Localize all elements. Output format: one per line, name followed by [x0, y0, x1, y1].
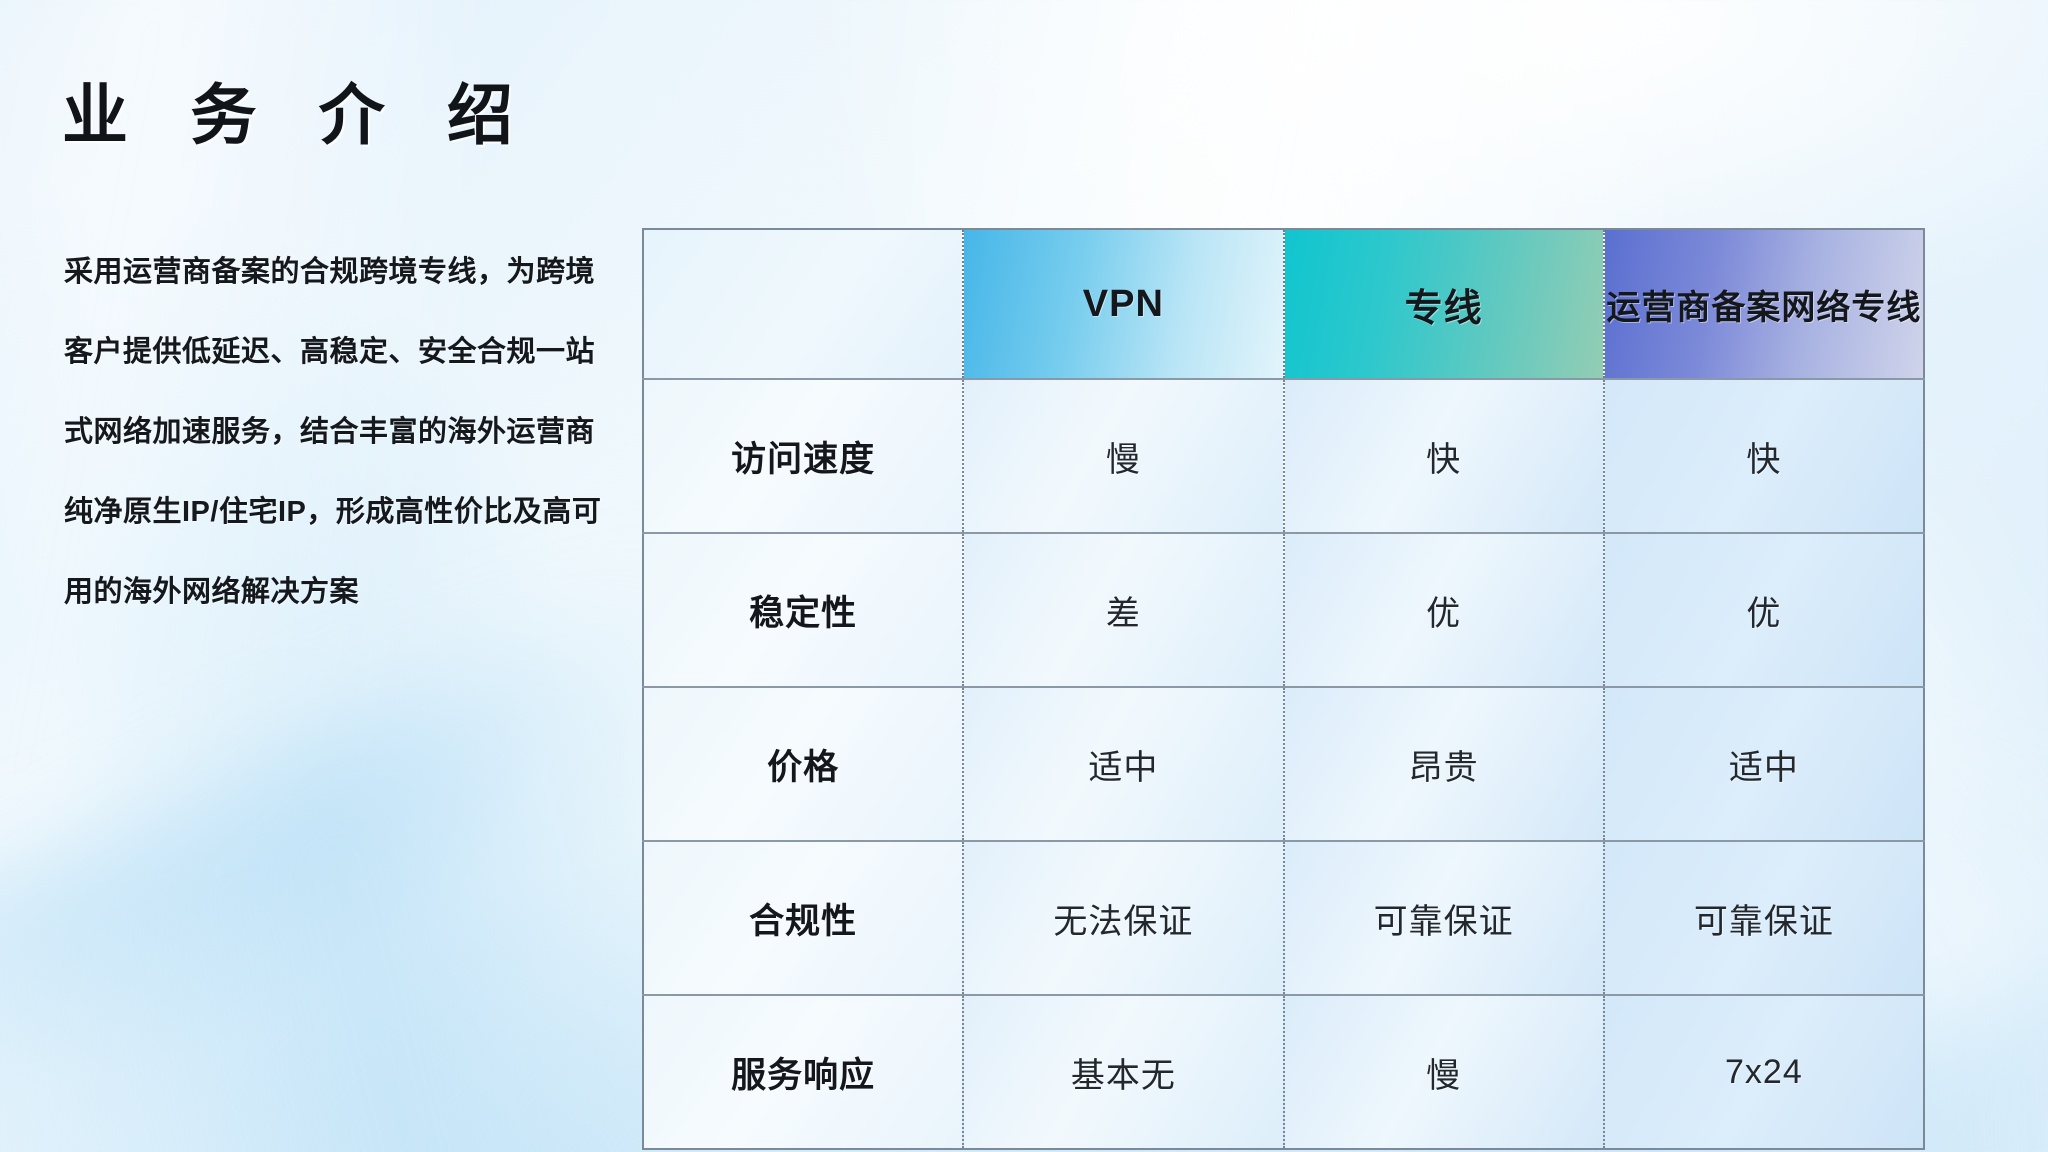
- cell-vpn-compliance: 无法保证: [963, 841, 1283, 995]
- cell-value: 基本无: [1071, 1057, 1176, 1095]
- cell-metric-label: 合规性: [749, 902, 857, 941]
- cell-carrier-access-speed: 快: [1604, 379, 1924, 533]
- cell-dedicated-service-response: 慢: [1284, 995, 1604, 1149]
- table-row: 服务响应 基本无 慢 7x24: [643, 995, 1924, 1149]
- comparison-table: VPN 专线 运营商备案网络专线 访问速度 慢 快: [642, 228, 1925, 1150]
- page-title: 业 务 介 绍: [62, 62, 535, 158]
- row-metric-access-speed: 访问速度: [643, 379, 963, 533]
- cell-carrier-stability: 优: [1604, 533, 1924, 687]
- cell-value: 优: [1426, 595, 1461, 633]
- table-row: 合规性 无法保证 可靠保证 可靠保证: [643, 841, 1924, 995]
- cell-value: 快: [1426, 441, 1461, 479]
- cell-value: 优: [1746, 595, 1781, 633]
- cell-value: 可靠保证: [1374, 903, 1514, 941]
- cell-metric-label: 价格: [767, 748, 839, 787]
- cell-value: 慢: [1106, 441, 1141, 479]
- header-label-vpn: VPN: [1083, 283, 1164, 325]
- row-metric-compliance: 合规性: [643, 841, 963, 995]
- header-label-dedicated: 专线: [1405, 288, 1483, 330]
- cell-vpn-price: 适中: [963, 687, 1283, 841]
- row-metric-stability: 稳定性: [643, 533, 963, 687]
- cell-vpn-stability: 差: [963, 533, 1283, 687]
- cell-value: 无法保证: [1053, 903, 1193, 941]
- row-metric-service-response: 服务响应: [643, 995, 963, 1149]
- table-header-row: VPN 专线 运营商备案网络专线: [643, 229, 1924, 379]
- cell-metric-label: 服务响应: [731, 1056, 875, 1095]
- cell-value: 快: [1746, 441, 1781, 479]
- header-cell-dedicated: 专线: [1284, 229, 1604, 379]
- cell-metric-label: 访问速度: [731, 440, 875, 479]
- cell-value: 慢: [1426, 1057, 1461, 1095]
- cell-dedicated-stability: 优: [1284, 533, 1604, 687]
- cell-value: 适中: [1729, 749, 1799, 787]
- row-metric-price: 价格: [643, 687, 963, 841]
- cell-dedicated-compliance: 可靠保证: [1284, 841, 1604, 995]
- cell-carrier-price: 适中: [1604, 687, 1924, 841]
- cell-vpn-access-speed: 慢: [963, 379, 1283, 533]
- cell-dedicated-access-speed: 快: [1284, 379, 1604, 533]
- cell-carrier-service-response: 7x24: [1604, 995, 1924, 1149]
- table-row: 价格 适中 昂贵 适中: [643, 687, 1924, 841]
- cell-value: 昂贵: [1409, 749, 1479, 787]
- table-row: 稳定性 差 优 优: [643, 533, 1924, 687]
- cell-value: 差: [1106, 595, 1141, 633]
- cell-dedicated-price: 昂贵: [1284, 687, 1604, 841]
- table-row: 访问速度 慢 快 快: [643, 379, 1924, 533]
- slide-canvas: 业 务 介 绍 采用运营商备案的合规跨境专线，为跨境客户提供低延迟、高稳定、安全…: [0, 0, 2048, 1152]
- cell-value: 可靠保证: [1694, 903, 1834, 941]
- intro-paragraph: 采用运营商备案的合规跨境专线，为跨境客户提供低延迟、高稳定、安全合规一站式网络加…: [64, 232, 624, 632]
- cell-value: 7x24: [1725, 1053, 1803, 1091]
- header-label-carrier: 运营商备案网络专线: [1606, 289, 1921, 327]
- cell-value: 适中: [1088, 749, 1158, 787]
- header-cell-metric: [643, 229, 963, 379]
- cell-carrier-compliance: 可靠保证: [1604, 841, 1924, 995]
- cell-vpn-service-response: 基本无: [963, 995, 1283, 1149]
- header-cell-vpn: VPN: [963, 229, 1283, 379]
- header-cell-carrier: 运营商备案网络专线: [1604, 229, 1924, 379]
- cell-metric-label: 稳定性: [749, 594, 857, 633]
